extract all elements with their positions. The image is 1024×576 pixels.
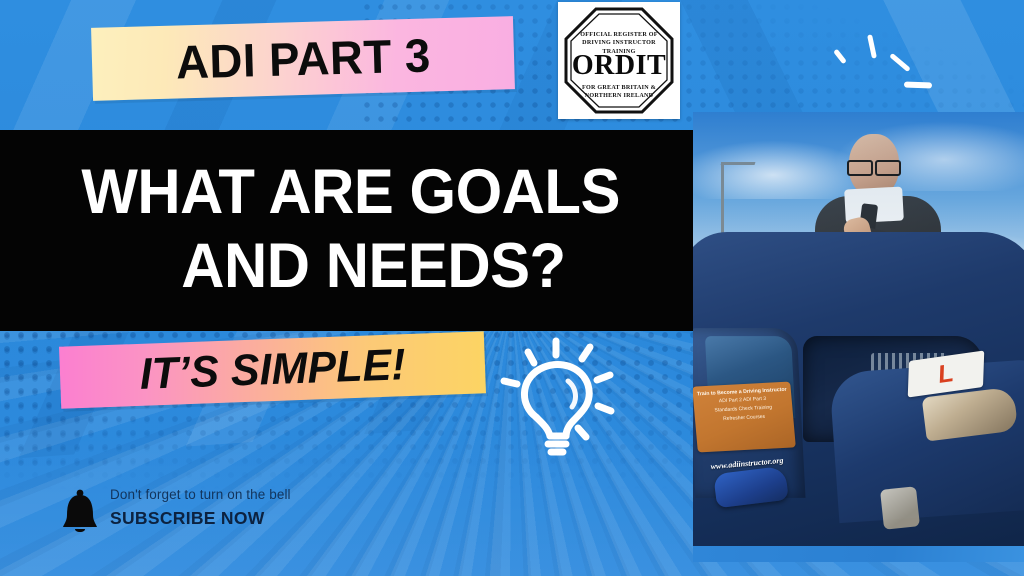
headline-banner: WHAT ARE GOALS AND NEEDS?: [0, 130, 694, 331]
adi-part-3-label: ADI PART 3: [175, 27, 431, 89]
lightbulb-icon: [498, 333, 620, 463]
headline-line-2: AND NEEDS?: [12, 229, 677, 303]
glasses-icon: [845, 160, 903, 172]
subscribe-block[interactable]: Don't forget to turn on the bell SUBSCRI…: [58, 484, 348, 548]
sparkle-dash-2: [867, 34, 877, 59]
ordit-line-4: FOR GREAT BRITAIN &: [582, 85, 656, 91]
sparkle-dash-3: [889, 53, 911, 72]
ordit-line-2: DRIVING INSTRUCTOR: [582, 40, 656, 46]
its-simple-label: IT’S SIMPLE!: [139, 340, 407, 400]
sparkle-dashes-icon: [826, 20, 946, 100]
car-foglight: [880, 486, 920, 530]
bell-icon: [58, 488, 102, 538]
ordit-line-5: NORTHERN IRELAND: [585, 93, 654, 99]
thumbnail-canvas: ADI PART 3 OFFICIAL REGISTER OF DRIVING …: [0, 0, 1024, 576]
headline-line-1: WHAT ARE GOALS: [12, 155, 677, 229]
subscribe-now-label[interactable]: SUBSCRIBE NOW: [110, 508, 265, 529]
sparkle-dash-4: [904, 82, 932, 89]
sparkle-dash-1: [833, 49, 847, 65]
photo-bottom-stripe: [693, 546, 1024, 562]
car-wing-mirror: [713, 466, 789, 509]
l-plate-letter: L: [938, 360, 954, 387]
ordit-wordmark: ORDIT: [558, 52, 680, 80]
instructor-photo: Train to Become a Driving Instructor ADI…: [693, 112, 1024, 562]
ordit-logo: OFFICIAL REGISTER OF DRIVING INSTRUCTOR …: [558, 2, 680, 119]
adi-part-3-banner: ADI PART 3: [91, 16, 515, 101]
ordit-line-1: OFFICIAL REGISTER OF: [580, 32, 657, 38]
subscribe-tagline: Don't forget to turn on the bell: [110, 487, 291, 502]
ordit-subtitle-bottom: FOR GREAT BRITAIN & NORTHERN IRELAND: [558, 84, 680, 101]
car-door-sign: Train to Become a Driving Instructor ADI…: [693, 382, 796, 453]
